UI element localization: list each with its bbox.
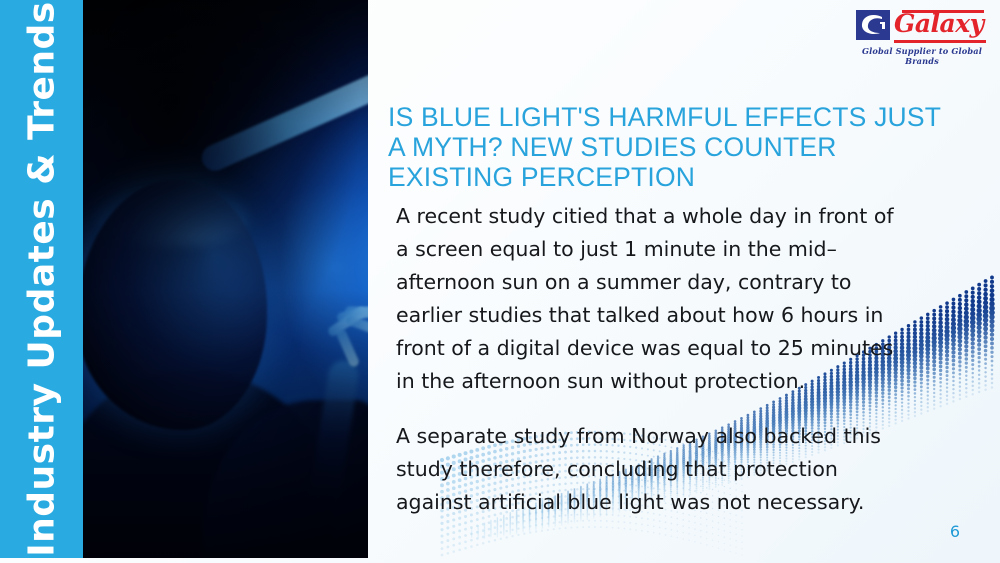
swoosh-glyph <box>858 13 888 37</box>
logo-tagline: Global Supplier to Global Brands <box>856 46 988 66</box>
logo-row: Galaxy <box>856 8 988 44</box>
logo-rule-bottom <box>894 40 986 43</box>
page-number: 6 <box>950 522 960 541</box>
page-title: IS BLUE LIGHT'S HARMFUL EFFECTS JUST A M… <box>388 102 948 192</box>
section-band: Industry Updates & Trends <box>0 0 83 558</box>
hero-photo <box>83 0 368 558</box>
paragraph-1: A recent study citied that a whole day i… <box>396 200 908 398</box>
slide: Industry Updates & Trends IS BLUE LIGHT'… <box>0 0 1000 563</box>
section-label: Industry Updates & Trends <box>21 1 62 557</box>
brand-logo: Galaxy Global Supplier to Global Brands <box>856 8 988 62</box>
paragraph-2: A separate study from Norway also backed… <box>396 420 908 519</box>
photo-vignette <box>83 0 368 558</box>
body-copy: A recent study citied that a whole day i… <box>396 200 908 519</box>
galaxy-g-swoosh-icon <box>856 10 890 40</box>
logo-wordmark: Galaxy <box>894 7 984 41</box>
